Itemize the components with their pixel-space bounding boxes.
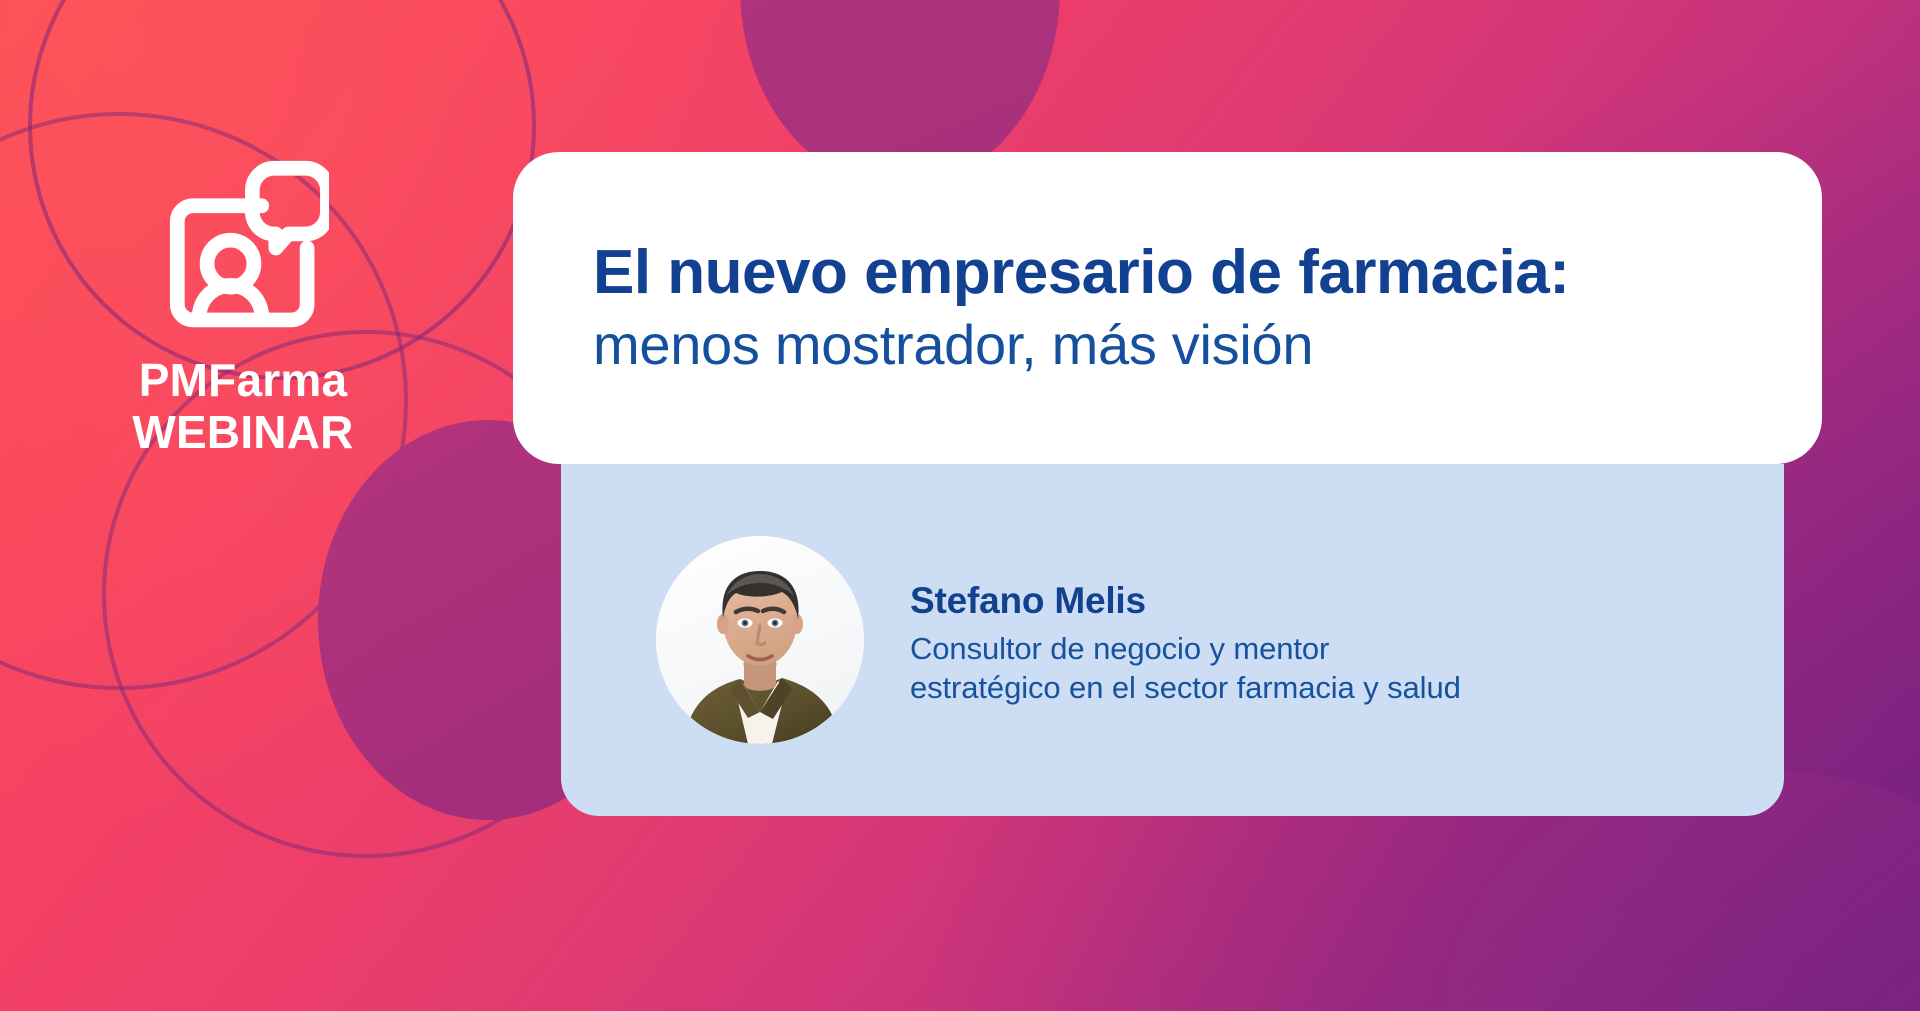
speaker-details: Stefano Melis Consultor de negocio y men…: [910, 573, 1461, 707]
webinar-promo-banner: PMFarma WEBINAR El nuevo empresario de f…: [0, 0, 1920, 1011]
brand-block: PMFarma WEBINAR: [78, 160, 408, 459]
webinar-title-primary: El nuevo empresario de farmacia:: [593, 238, 1822, 307]
webinar-presenter-icon: [157, 160, 329, 336]
speaker-card: Stefano Melis Consultor de negocio y men…: [561, 464, 1784, 816]
avatar: [656, 536, 864, 744]
speaker-name: Stefano Melis: [910, 579, 1461, 623]
speaker-portrait: [656, 536, 864, 744]
brand-kind: WEBINAR: [78, 406, 408, 458]
brand-name: PMFarma: [78, 354, 408, 406]
speaker-role-line-2: estratégico en el sector farmacia y salu…: [910, 668, 1461, 707]
webinar-title-secondary: menos mostrador, más visión: [593, 313, 1822, 378]
speaker-role-line-1: Consultor de negocio y mentor: [910, 629, 1461, 668]
title-card: El nuevo empresario de farmacia: menos m…: [513, 152, 1822, 464]
